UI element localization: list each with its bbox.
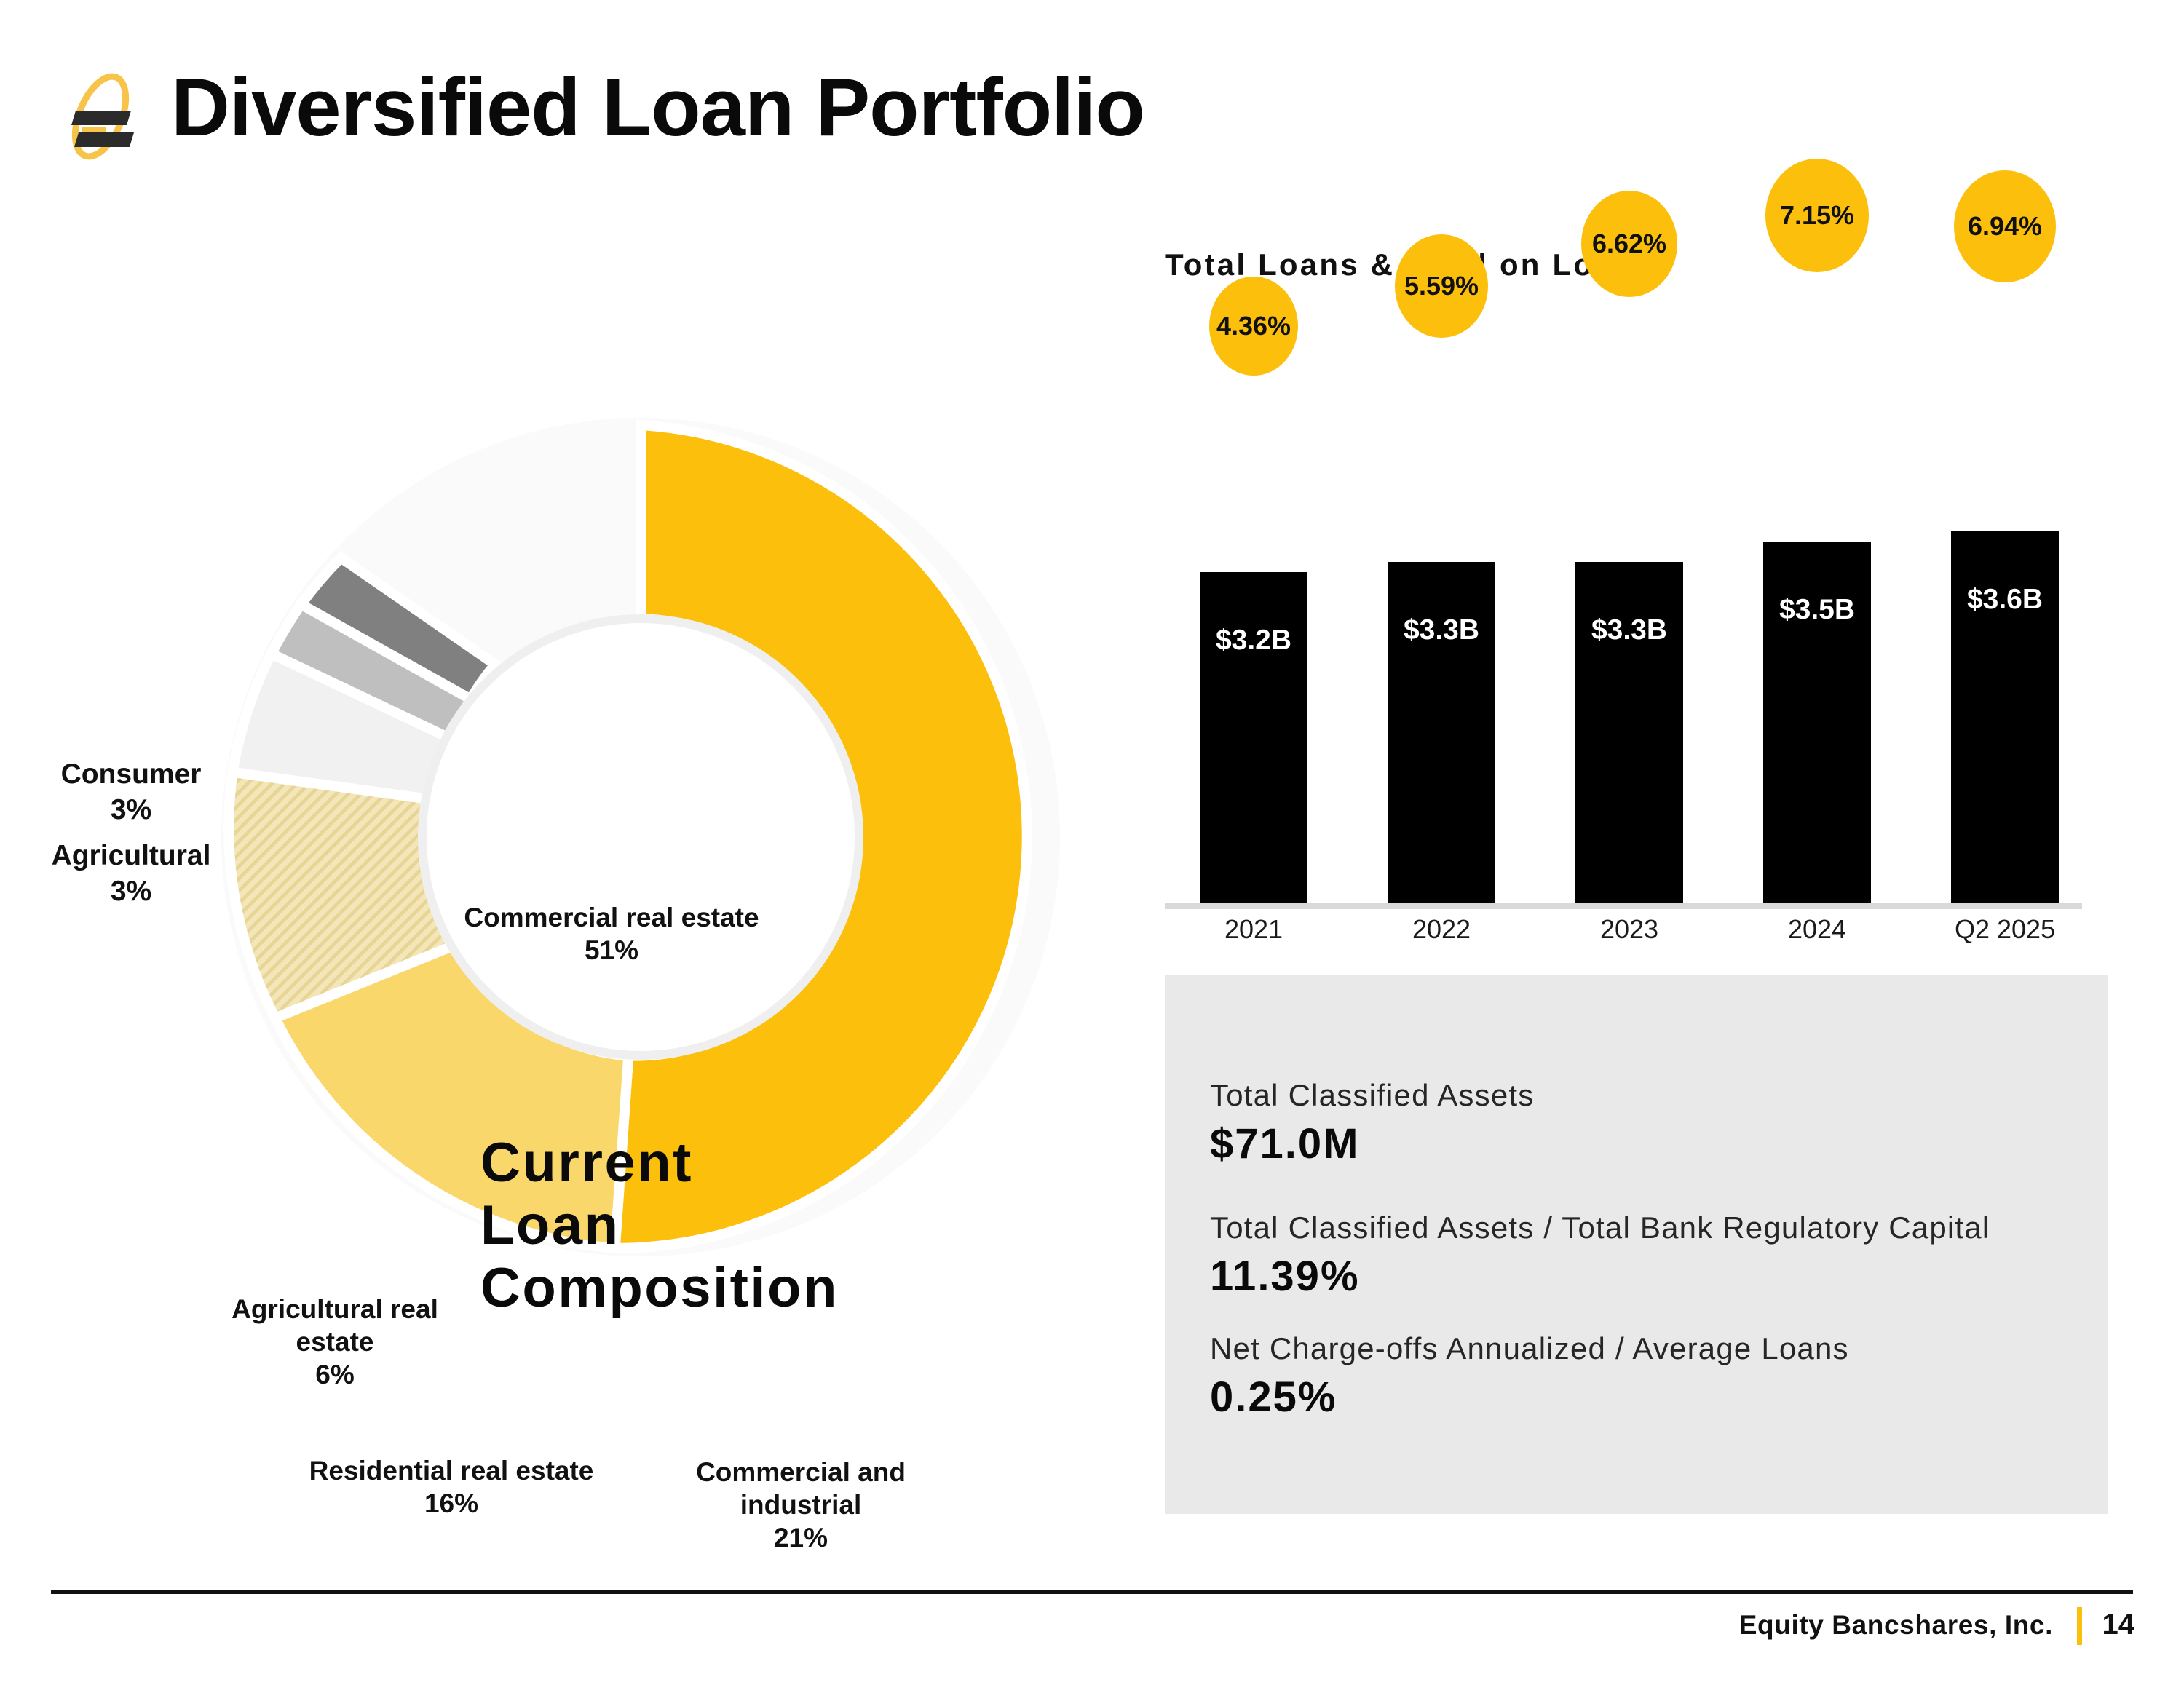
x-axis-label-2024: 2024 (1737, 914, 1897, 945)
slice-label-consumer: Consumer 3% (15, 757, 248, 828)
slice-label-pct: 51% (408, 934, 815, 967)
slice-label-pct: 21% (655, 1521, 946, 1554)
center-line-2: Loan (480, 1194, 830, 1257)
stat-net-charge-offs: Net Charge-offs Annualized / Average Loa… (1210, 1331, 1849, 1422)
slice-label-name: Agricultural real estate (204, 1293, 466, 1358)
slice-label-name: Commercial and industrial (655, 1456, 946, 1521)
footer-company: Equity Bancshares, Inc. (1739, 1610, 2053, 1641)
footer-separator (2077, 1607, 2082, 1645)
equity-bancshares-e-logo-icon (64, 70, 137, 163)
bar-value-label: $3.2B (1200, 625, 1307, 657)
stat-value: $71.0M (1210, 1119, 1534, 1168)
slice-label-residential-real-estate: Residential real estate 16% (306, 1454, 597, 1520)
slice-label-agricultural-real-estate: Agricultural real estate 6% (204, 1293, 466, 1391)
footer-divider (51, 1590, 2133, 1594)
stat-label: Total Classified Assets (1210, 1077, 1534, 1114)
chart-baseline (1165, 903, 2082, 909)
yield-bubble-2021: 4.36% (1209, 277, 1298, 376)
yield-bubble-2022: 5.59% (1395, 234, 1488, 338)
slice-label-commercial-real-estate: Commercial real estate 51% (408, 901, 815, 967)
x-axis-label-2022: 2022 (1361, 914, 1522, 945)
slice-label-name: Agricultural (15, 838, 248, 874)
stat-classified-to-capital: Total Classified Assets / Total Bank Reg… (1210, 1210, 1990, 1301)
slice-label-pct: 16% (306, 1487, 597, 1520)
slide-header: Diversified Loan Portfolio (0, 0, 2184, 182)
yield-bubble-q2-2025: 6.94% (1954, 170, 2056, 282)
stat-label: Net Charge-offs Annualized / Average Loa… (1210, 1331, 1849, 1367)
slice-label-name: Residential real estate (306, 1454, 597, 1487)
page-title: Diversified Loan Portfolio (171, 67, 1144, 148)
slice-label-pct: 3% (15, 874, 248, 910)
x-axis-label-2021: 2021 (1174, 914, 1334, 945)
stat-value: 11.39% (1210, 1252, 1990, 1301)
bar-value-label: $3.3B (1388, 614, 1495, 646)
stat-value: 0.25% (1210, 1373, 1849, 1422)
bar-value-label: $3.5B (1763, 594, 1871, 626)
stat-label: Total Classified Assets / Total Bank Reg… (1210, 1210, 1990, 1246)
bar-2021 (1200, 572, 1307, 903)
total-loans-yield-chart: Total Loans & Yield on Loans $3.2B4.36%2… (1165, 247, 2133, 903)
donut-center-title: Current Loan Composition (480, 1132, 830, 1320)
stat-total-classified-assets: Total Classified Assets $71.0M (1210, 1077, 1534, 1168)
slice-label-name: Commercial real estate (408, 901, 815, 934)
center-line-3: Composition (480, 1257, 830, 1320)
page-number: 14 (2102, 1609, 2135, 1641)
slice-label-pct: 6% (204, 1358, 466, 1391)
donut-center-hole (422, 619, 859, 1055)
slice-label-pct: 3% (15, 793, 248, 828)
yield-bubble-2024: 7.15% (1765, 159, 1869, 272)
slide-diversified-loan-portfolio: Diversified Loan Portfolio (0, 0, 2184, 1685)
bar-2022 (1388, 562, 1495, 903)
credit-quality-stats-box: Total Classified Assets $71.0M Total Cla… (1165, 975, 2108, 1514)
slice-label-name: Consumer (15, 757, 248, 793)
center-line-1: Current (480, 1132, 830, 1194)
bar-2023 (1575, 562, 1683, 903)
slice-label-commercial-and-industrial: Commercial and industrial 21% (655, 1456, 946, 1554)
x-axis-label-q2-2025: Q2 2025 (1925, 914, 2085, 945)
bar-plot-area: $3.2B4.36%2021$3.3B5.59%2022$3.3B6.62%20… (1165, 393, 2111, 757)
bar-value-label: $3.6B (1951, 584, 2059, 616)
bar-value-label: $3.3B (1575, 614, 1683, 646)
x-axis-label-2023: 2023 (1549, 914, 1709, 945)
yield-bubble-2023: 6.62% (1581, 191, 1677, 297)
slice-label-agricultural: Agricultural 3% (15, 838, 248, 910)
